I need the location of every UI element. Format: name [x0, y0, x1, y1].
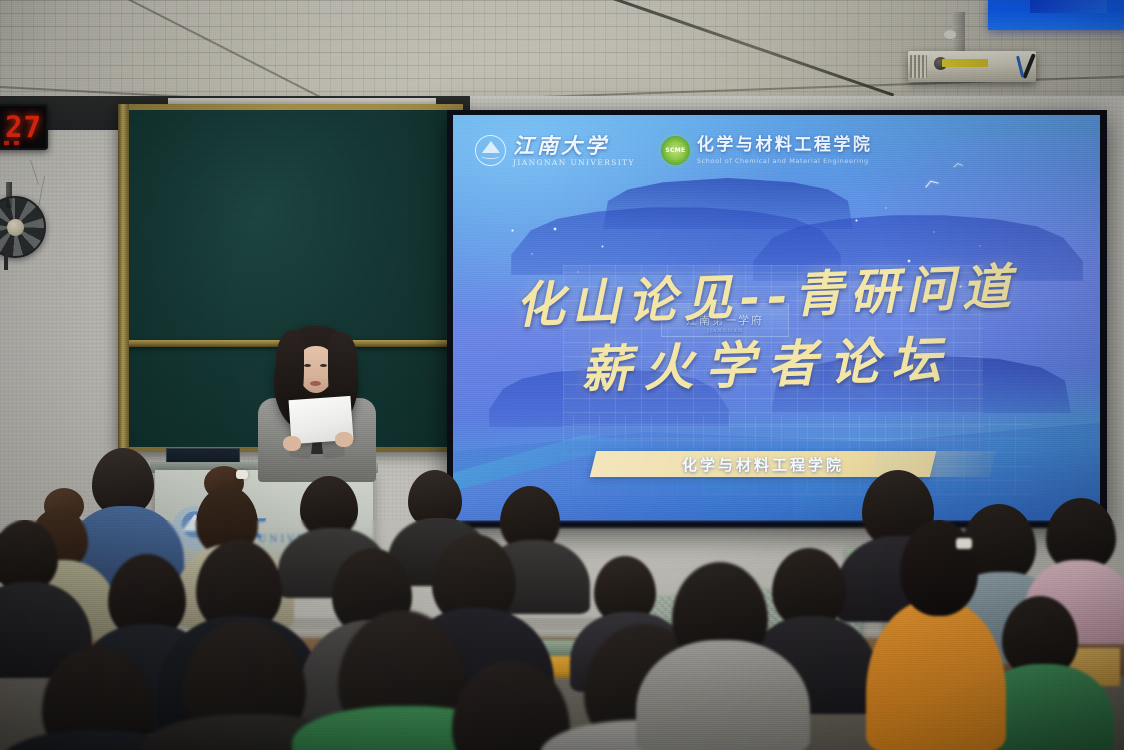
projector-vent [910, 55, 927, 78]
speaker-mouth [310, 381, 321, 386]
fan-hub [7, 219, 24, 236]
slide-header: 江南大学 JIANGNAN UNIVERSITY SCME 化学与材料工程学院 … [475, 135, 1080, 167]
projector-mount-cap [944, 30, 956, 39]
chalkboard-left-trim [118, 104, 129, 452]
speaker-eye-left [304, 364, 311, 367]
clock-indicator-dots [0, 141, 19, 145]
scme-emblem-text: SCME [665, 147, 685, 154]
projection-screen-frame: 江南第一学府 JIANGNAN ︿ ︿ 江南大学 JIANGNAN UNIVER… [447, 110, 1107, 528]
school-logo-unit: SCME 化学与材料工程学院 School of Chemical and Ma… [661, 136, 873, 165]
speaker-hand-right [335, 432, 353, 447]
lecture-hall-scene: 27 江南第一学府 JIANGNA [0, 0, 1124, 750]
university-logo-unit: 江南大学 JIANGNAN UNIVERSITY [475, 135, 635, 167]
fan-pole [4, 252, 8, 270]
school-name-cn: 化学与材料工程学院 [697, 137, 873, 154]
university-name-cn: 江南大学 [513, 135, 635, 156]
school-name-en: School of Chemical and Material Engineer… [697, 158, 873, 165]
scme-emblem: SCME [661, 136, 690, 165]
slide-title-sub: 薪火学者论坛 [580, 320, 954, 402]
projector-badge [942, 59, 988, 67]
hair-clip [236, 470, 248, 479]
speaker-hand-left [283, 436, 301, 451]
wall-display-blue[interactable] [988, 0, 1124, 30]
jiangnan-university-emblem [475, 135, 506, 166]
university-name-en: JIANGNAN UNIVERSITY [513, 159, 635, 167]
head [900, 520, 978, 616]
led-wall-clock: 27 [0, 104, 48, 150]
clock-digits: 27 [5, 113, 42, 142]
hair-clip [956, 538, 972, 549]
projection-screen[interactable]: 江南第一学府 JIANGNAN ︿ ︿ 江南大学 JIANGNAN UNIVER… [453, 115, 1100, 521]
speaker-eye-right [320, 364, 327, 367]
